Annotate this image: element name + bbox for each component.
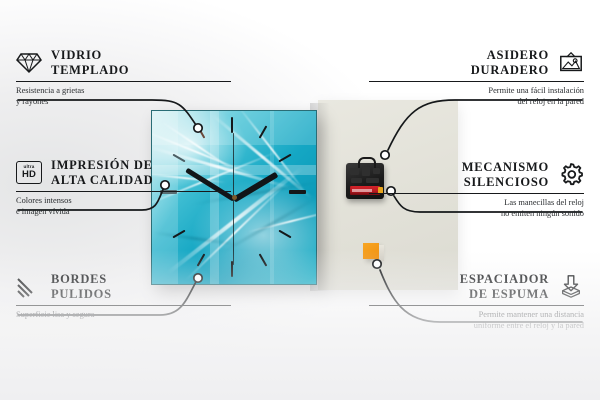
ultra-hd-large-text: HD bbox=[22, 170, 36, 180]
feature-espaciador-de-espuma: ESPACIADOR DE ESPUMA Permite mantener un… bbox=[369, 272, 584, 331]
feature-title-line1: VIDRIO bbox=[51, 48, 102, 62]
feature-rule bbox=[369, 81, 584, 82]
feature-rule bbox=[369, 193, 584, 194]
feature-desc-line1: Las manecillas del reloj bbox=[504, 198, 584, 207]
feature-desc-line1: Permite mantener una distancia bbox=[479, 310, 584, 319]
gear-icon bbox=[558, 162, 584, 188]
feature-bordes-pulidos: BORDES PULIDOS Superficie lisa y segura bbox=[16, 272, 231, 321]
feature-title-line2: TEMPLADO bbox=[51, 63, 129, 77]
feature-title-line1: BORDES bbox=[51, 272, 107, 286]
feature-title-line2: PULIDOS bbox=[51, 287, 112, 301]
feature-title-line2: DURADERO bbox=[471, 63, 549, 77]
diamond-icon bbox=[16, 50, 42, 76]
feature-impresion-alta-calidad: ultra HD IMPRESIÓN DE ALTA CALIDAD Color… bbox=[16, 158, 231, 217]
feature-rule bbox=[369, 305, 584, 306]
feature-rule bbox=[16, 191, 231, 192]
feature-desc-line2: del reloj en la pared bbox=[517, 97, 584, 106]
ultra-hd-icon: ultra HD bbox=[16, 160, 42, 186]
polished-edges-icon bbox=[16, 274, 42, 300]
feature-rule bbox=[16, 81, 231, 82]
wire-endpoint-asidero bbox=[381, 151, 389, 159]
feature-title-line1: ESPACIADOR bbox=[460, 272, 549, 286]
feature-title-line2: DE ESPUMA bbox=[469, 287, 549, 301]
feature-desc-line1: Colores intensos bbox=[16, 196, 72, 205]
feature-desc-line2: no emiten ningún sonido bbox=[501, 209, 584, 218]
picture-frame-hanger-icon bbox=[558, 50, 584, 76]
feature-title-line2: SILENCIOSO bbox=[464, 175, 549, 189]
feature-desc-line2: e imagen vívida bbox=[16, 207, 70, 216]
wire-endpoint-espaciador bbox=[373, 260, 381, 268]
feature-desc-line1: Resistencia a grietas bbox=[16, 86, 84, 95]
feature-desc-line2: uniforme entre el reloj y la pared bbox=[474, 321, 584, 330]
feature-desc-line1: Permite una fácil instalación bbox=[488, 86, 584, 95]
arrow-down-pad-icon bbox=[558, 274, 584, 300]
wire-asidero bbox=[388, 100, 582, 150]
infographic-canvas: VIDRIO TEMPLADO Resistencia a grietas y … bbox=[0, 0, 600, 400]
feature-desc-line2: y rayones bbox=[16, 97, 48, 106]
wire-endpoint-vidrio-templado bbox=[194, 124, 202, 132]
feature-title-line1: ASIDERO bbox=[487, 48, 549, 62]
feature-title-line1: MECANISMO bbox=[462, 160, 549, 174]
clock-center-pin bbox=[232, 195, 237, 200]
feature-title-line2: ALTA CALIDAD bbox=[51, 173, 153, 187]
feature-title-line1: IMPRESIÓN DE bbox=[51, 158, 153, 172]
feature-mecanismo-silencioso: MECANISMO SILENCIOSO Las manecillas del … bbox=[369, 160, 584, 219]
feature-desc-line1: Superficie lisa y segura bbox=[16, 310, 94, 319]
feature-rule bbox=[16, 305, 231, 306]
feature-asidero-duradero: ASIDERO DURADERO Permite una fácil insta… bbox=[369, 48, 584, 107]
feature-vidrio-templado: VIDRIO TEMPLADO Resistencia a grietas y … bbox=[16, 48, 231, 107]
